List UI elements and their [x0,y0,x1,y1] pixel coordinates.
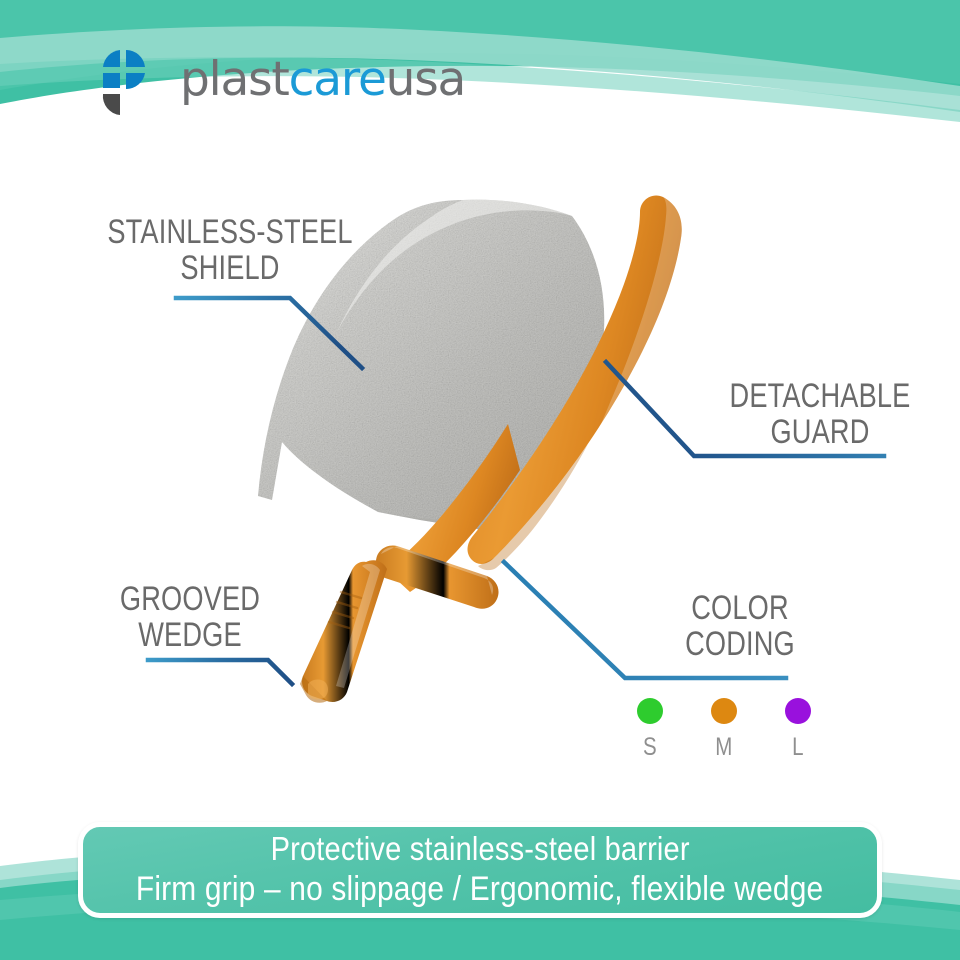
callout-grooved-wedge: GROOVED WEDGE [54,581,326,654]
swatch-label-medium: M [708,733,741,762]
feature-banner: Protective stainless-steel barrier Firm … [78,822,882,918]
callout-detachable-guard: DETACHABLE GUARD [676,378,960,451]
callout-color-coding: COLOR CODING [620,590,860,663]
swatch-medium: M [704,698,744,778]
leader-line-shield [176,298,362,368]
banner-line-2: Firm grip – no slippage / Ergonomic, fle… [136,869,824,909]
banner-line-1: Protective stainless-steel barrier [270,830,689,869]
swatch-label-large: L [782,733,815,762]
swatch-large: L [778,698,818,778]
leader-line-wedge [148,660,292,684]
swatch-dot-medium [711,698,737,724]
swatch-dot-large [785,698,811,724]
leader-lines [0,0,960,960]
swatch-small: S [630,698,670,778]
infographic-canvas: plastcareusa [0,0,960,960]
swatch-label-small: S [634,733,667,762]
callout-stainless-steel-shield: STAINLESS-STEEL SHIELD [78,214,382,287]
swatch-dot-small [637,698,663,724]
color-coding-legend: S M L [630,698,850,778]
